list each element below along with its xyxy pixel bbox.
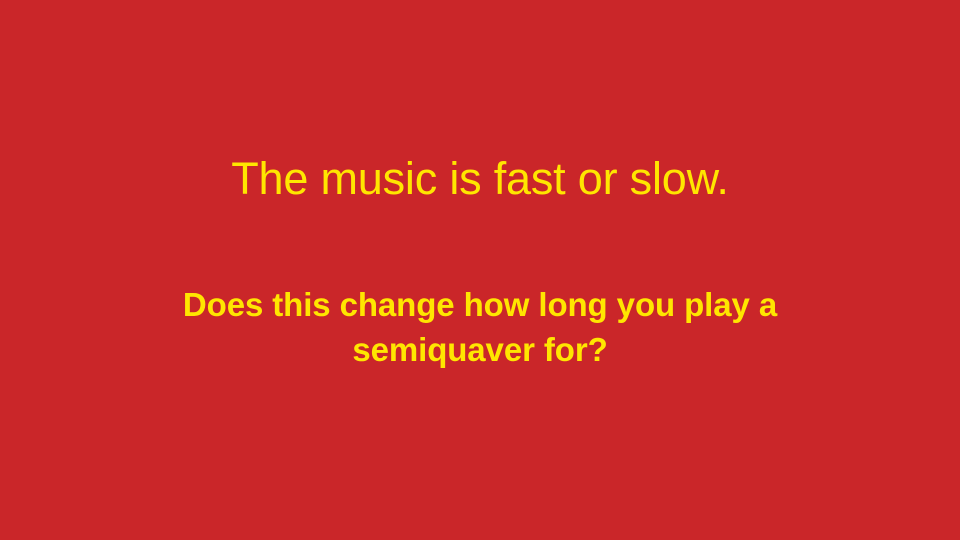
slide-canvas: The music is fast or slow. Does this cha… [0, 0, 960, 540]
body-placeholder[interactable]: Does this change how long you play a sem… [120, 282, 840, 372]
title-placeholder[interactable]: The music is fast or slow. [72, 150, 888, 207]
slide-body-text: Does this change how long you play a sem… [120, 282, 840, 372]
slide-title: The music is fast or slow. [72, 150, 888, 207]
